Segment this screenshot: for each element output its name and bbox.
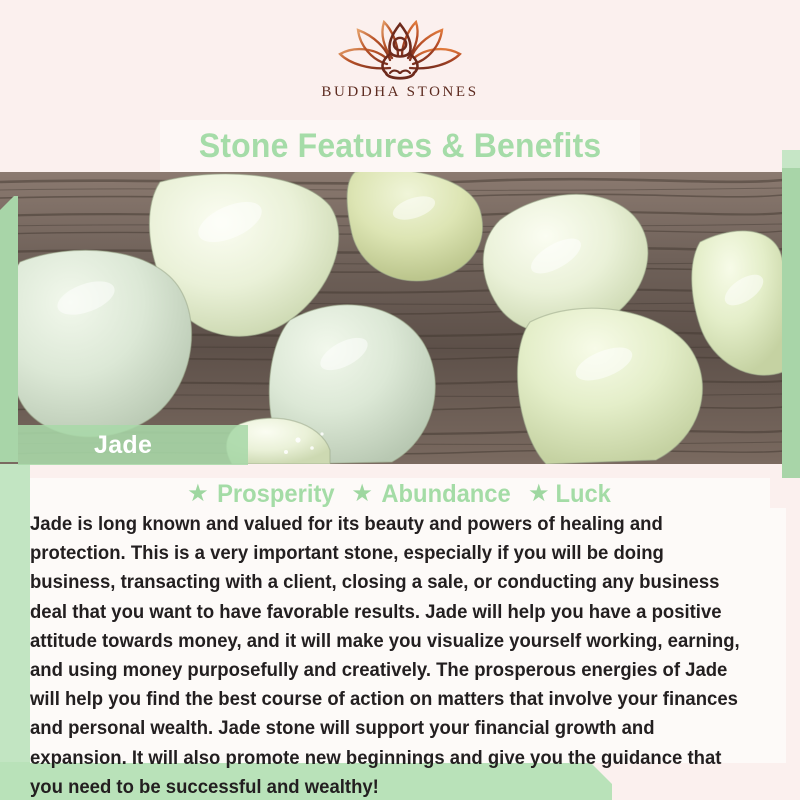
page-title: Stone Features & Benefits (199, 127, 602, 166)
product-info-card: BUDDHA STONES (0, 0, 800, 800)
accent-strip-left (0, 196, 18, 462)
accent-strip-left-lower (0, 452, 30, 782)
jade-stones-photo (0, 172, 783, 464)
star-icon: ★ (351, 482, 373, 506)
accent-strip-right (782, 168, 800, 478)
section-title-banner: Stone Features & Benefits (160, 120, 640, 172)
lotus-meditation-icon (330, 18, 470, 82)
accent-strip-right-top (782, 150, 800, 170)
stone-name-band: Jade (18, 425, 248, 465)
description-panel: Jade is long known and valued for its be… (30, 508, 786, 763)
brand-logo-block: BUDDHA STONES (0, 18, 800, 101)
benefit-label: Prosperity (217, 480, 334, 509)
description-text: Jade is long known and valued for its be… (30, 510, 752, 800)
benefit-item: ★ Luck (528, 480, 613, 509)
star-icon: ★ (187, 482, 209, 506)
benefit-label: Abundance (381, 480, 510, 509)
benefit-label: Luck (556, 480, 611, 509)
stone-name: Jade (94, 431, 152, 460)
star-icon: ★ (528, 482, 550, 506)
benefit-item: ★ Prosperity (187, 480, 337, 509)
benefit-item: ★ Abundance (351, 480, 514, 509)
benefits-list: ★ Prosperity ★ Abundance ★ Luck (30, 478, 770, 510)
brand-name: BUDDHA STONES (0, 84, 800, 101)
